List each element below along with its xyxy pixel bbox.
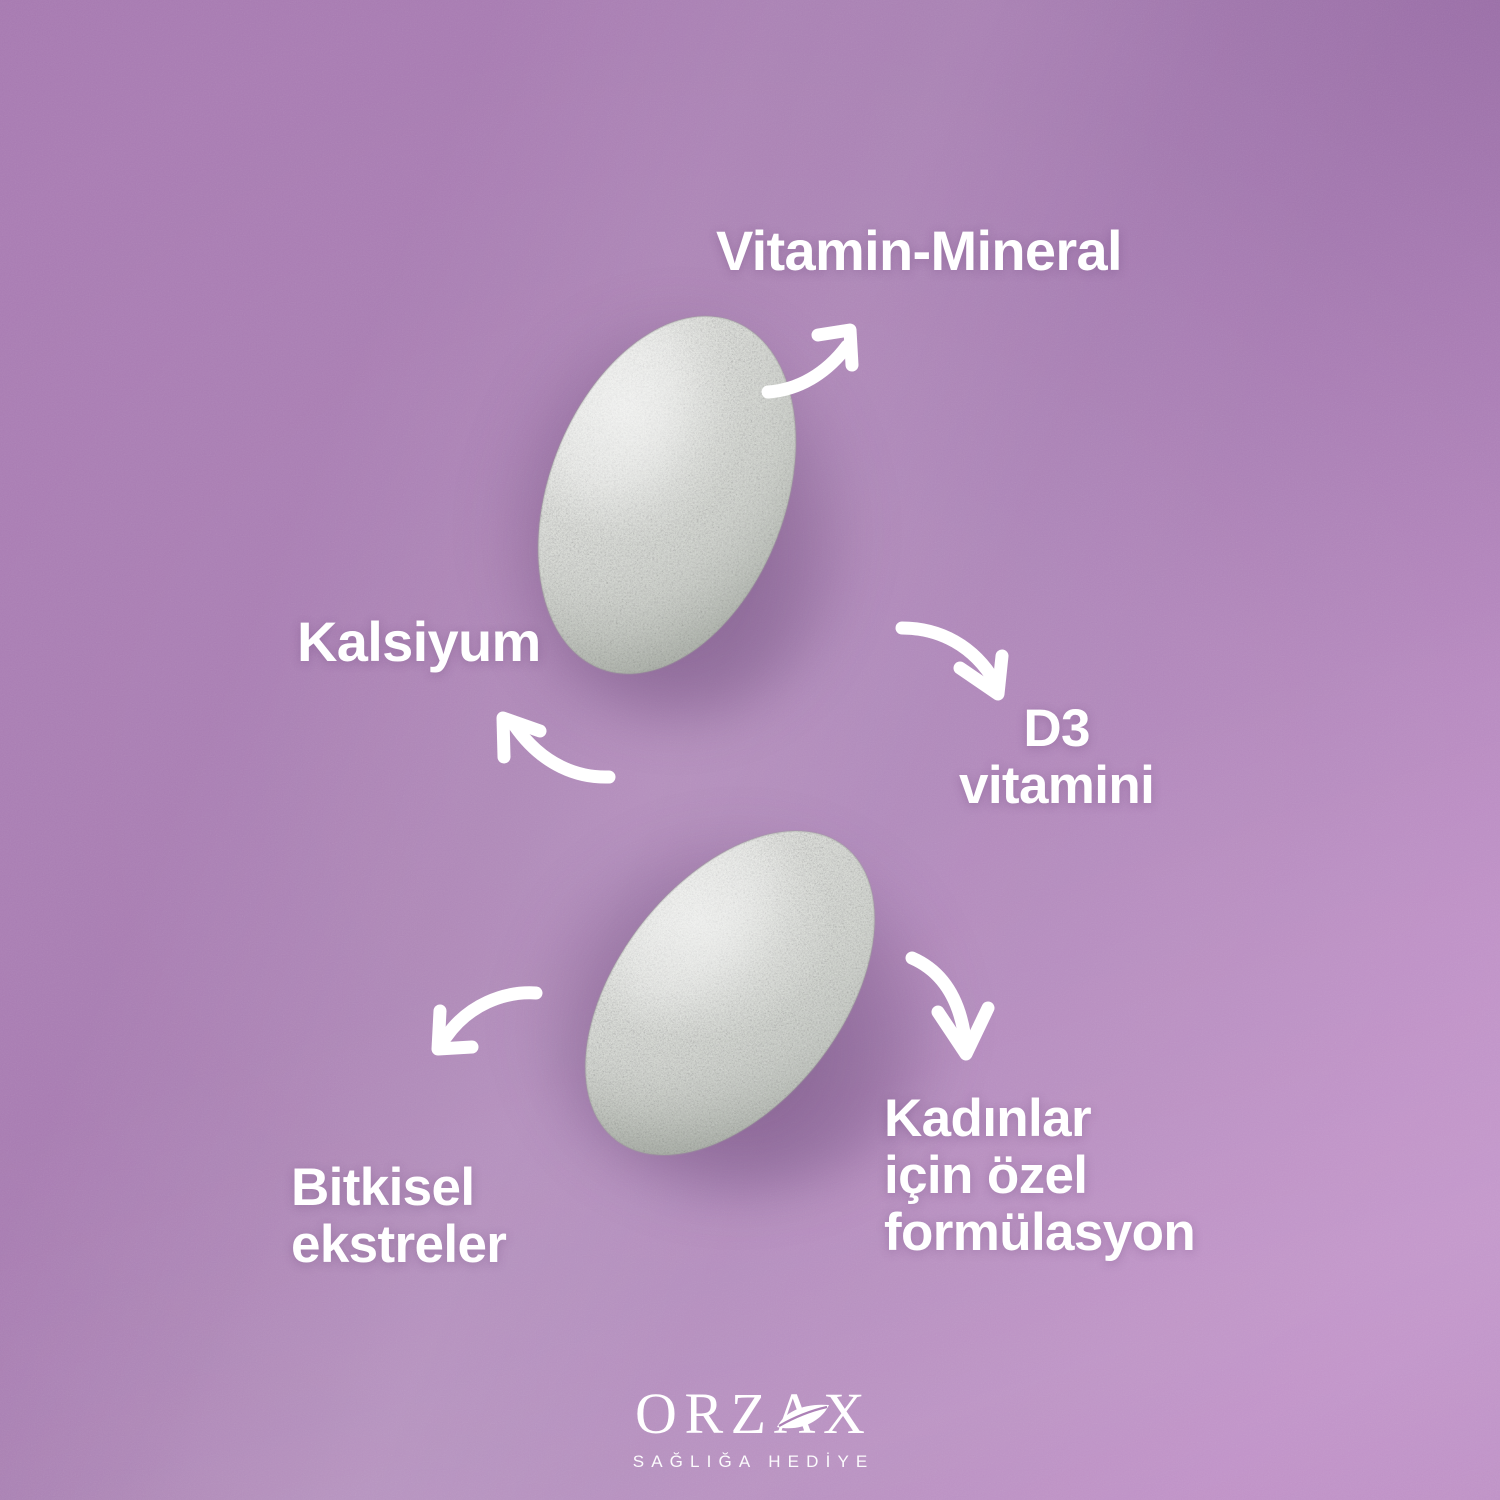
- brand-logo: ORZAX SAĞLIĞA HEDİYE: [0, 1385, 1500, 1472]
- label-kalsiyum: Kalsiyum: [297, 612, 541, 672]
- label-kadinlar-icin-ozel-formulasyon: Kadınlar için özel formülasyon: [884, 1090, 1195, 1262]
- brand-wordmark: ORZAX: [627, 1385, 872, 1443]
- curved-arrow-down-left-icon: [412, 975, 552, 1080]
- tablet-bottom-body: [530, 818, 930, 1168]
- tablet-bottom: [530, 818, 930, 1168]
- label-d3-vitamini: D3 vitamini: [959, 700, 1154, 814]
- curved-arrow-down-icon: [900, 950, 1030, 1075]
- brand-wordmark-wrap: ORZAX: [627, 1385, 872, 1443]
- curved-arrow-up-right-icon: [760, 308, 900, 418]
- brand-tagline: SAĞLIĞA HEDİYE: [626, 1452, 875, 1472]
- leaf-icon: [775, 1402, 831, 1432]
- label-vitamin-mineral: Vitamin-Mineral: [716, 221, 1122, 281]
- label-bitkisel-ekstreler: Bitkisel ekstreler: [291, 1159, 506, 1273]
- curved-arrow-down-right-icon: [892, 612, 1032, 712]
- promo-image-canvas: Vitamin-Mineral Kalsiyum D3 vitamini Bit…: [0, 0, 1500, 1500]
- curved-arrow-up-left-icon: [477, 700, 617, 800]
